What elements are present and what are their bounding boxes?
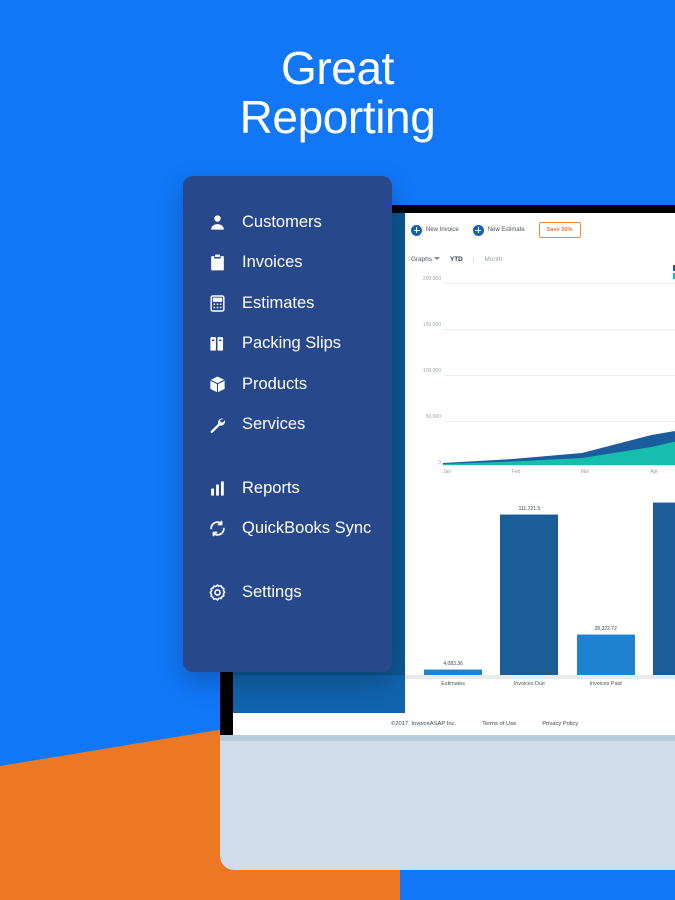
bar-rect bbox=[653, 502, 675, 675]
sidebar-group-divider bbox=[207, 445, 392, 468]
sidebar-item-estimates[interactable]: Estimates bbox=[207, 283, 392, 324]
x-axis-tick: Mar bbox=[581, 469, 590, 475]
graphs-label: Graphs bbox=[411, 256, 432, 263]
bar-column: 4,083.36 bbox=[424, 495, 482, 675]
sidebar-item-label: Reports bbox=[242, 479, 300, 498]
app-footer: ©2017. InvoiceASAP Inc. Terms of Use Pri… bbox=[233, 713, 675, 735]
box-icon bbox=[207, 374, 228, 395]
y-axis-tick: 100,000 bbox=[411, 368, 441, 374]
sidebar-item-label: Estimates bbox=[242, 294, 314, 313]
sales-payments-area-chart: 200,000 150,000 100,000 50,000 0 Jan Feb… bbox=[411, 271, 675, 493]
x-axis: Jan Feb Mar Apr May bbox=[443, 465, 675, 479]
chevron-down-icon bbox=[434, 257, 440, 260]
bar-rect bbox=[577, 634, 635, 675]
sidebar-item-services[interactable]: Services bbox=[207, 405, 392, 446]
sidebar-item-label: Customers bbox=[242, 213, 322, 232]
bar-category-label: Invoices Due bbox=[500, 681, 558, 687]
tab-separator: | bbox=[473, 256, 475, 263]
sidebar-group-divider bbox=[207, 549, 392, 572]
sidebar-item-customers[interactable]: Customers bbox=[207, 202, 392, 243]
bar-value-label: 4,083.36 bbox=[443, 661, 462, 667]
graphs-dropdown[interactable]: Graphs bbox=[411, 256, 440, 263]
new-estimate-label: New Estimate bbox=[488, 227, 525, 233]
tab-month[interactable]: Month bbox=[484, 256, 502, 263]
bar-category-label bbox=[653, 681, 675, 687]
sidebar-item-label: Services bbox=[242, 415, 305, 434]
page-title: Great Reporting bbox=[0, 44, 675, 142]
bar-category-labels: Estimates Invoices Due Invoices Paid bbox=[415, 681, 675, 687]
graph-tab-row: Graphs YTD | Month bbox=[411, 249, 675, 269]
wrench-icon bbox=[207, 414, 228, 435]
new-estimate-button[interactable]: New Estimate bbox=[473, 225, 525, 236]
bar-category-label: Invoices Paid bbox=[577, 681, 635, 687]
plus-circle-icon bbox=[411, 225, 422, 236]
bar-column: 111,721.5 bbox=[500, 495, 558, 675]
gear-icon bbox=[207, 582, 228, 603]
sidebar-item-settings[interactable]: Settings bbox=[207, 572, 392, 613]
packing-slips-icon bbox=[207, 333, 228, 354]
sidebar-item-label: Packing Slips bbox=[242, 334, 341, 353]
bar-column: 28,322.72 bbox=[577, 495, 635, 675]
calculator-icon bbox=[207, 293, 228, 314]
bar-value-label: 28,322.72 bbox=[595, 626, 617, 632]
floating-sidebar-menu: Customers Invoices Estimates Packing Sli… bbox=[183, 176, 392, 672]
y-axis-tick: 50,000 bbox=[411, 414, 441, 420]
area-series-svg bbox=[443, 275, 675, 465]
monitor-base-edge bbox=[220, 735, 675, 741]
bar-category-label: Estimates bbox=[424, 681, 482, 687]
new-invoice-button[interactable]: New Invoice bbox=[411, 225, 459, 236]
plus-circle-icon bbox=[473, 225, 484, 236]
x-axis-tick: Jan bbox=[443, 469, 451, 475]
copyright-text: ©2017. InvoiceASAP Inc. bbox=[391, 721, 456, 727]
bar-series: 4,083.36 111,721.5 28,322.72 bbox=[415, 495, 675, 675]
app-toolbar: New Invoice New Estimate Save 50% bbox=[405, 213, 675, 247]
sidebar-item-quickbooks-sync[interactable]: QuickBooks Sync bbox=[207, 509, 392, 550]
sync-icon bbox=[207, 518, 228, 539]
bar-value-label: 111,721.5 bbox=[519, 506, 541, 512]
person-icon bbox=[207, 212, 228, 233]
bar-chart-icon bbox=[207, 478, 228, 499]
sidebar-item-invoices[interactable]: Invoices bbox=[207, 243, 392, 284]
y-axis-tick: 0 bbox=[411, 460, 441, 466]
headline-line-2: Reporting bbox=[0, 93, 675, 142]
invoice-summary-bar-chart: 4,083.36 111,721.5 28,322.72 bbox=[405, 495, 675, 700]
clipboard-icon bbox=[207, 252, 228, 273]
sidebar-item-reports[interactable]: Reports bbox=[207, 468, 392, 509]
promo-screenshot: Great Reporting New Invoice bbox=[0, 0, 675, 900]
x-axis-tick: Apr bbox=[650, 469, 658, 475]
sidebar-item-label: Settings bbox=[242, 583, 302, 602]
save-promo-badge[interactable]: Save 50% bbox=[539, 222, 581, 238]
sidebar-item-label: Products bbox=[242, 375, 307, 394]
bar-column bbox=[653, 495, 675, 675]
bar-rect bbox=[500, 514, 558, 675]
sidebar-item-products[interactable]: Products bbox=[207, 364, 392, 405]
app-left-nav-lower bbox=[233, 675, 405, 717]
sidebar-item-label: QuickBooks Sync bbox=[242, 519, 371, 538]
sidebar-item-label: Invoices bbox=[242, 253, 303, 272]
y-axis-tick: 200,000 bbox=[411, 276, 441, 282]
monitor-base bbox=[220, 735, 675, 870]
new-invoice-label: New Invoice bbox=[426, 227, 459, 233]
privacy-policy-link[interactable]: Privacy Policy bbox=[542, 721, 578, 727]
area-plot bbox=[443, 275, 675, 465]
terms-of-use-link[interactable]: Terms of Use bbox=[482, 721, 516, 727]
tab-ytd[interactable]: YTD bbox=[450, 256, 463, 263]
headline-line-1: Great bbox=[281, 42, 394, 94]
bar-baseline bbox=[405, 675, 675, 679]
y-axis-tick: 150,000 bbox=[411, 322, 441, 328]
sidebar-item-packing-slips[interactable]: Packing Slips bbox=[207, 324, 392, 365]
x-axis-tick: Feb bbox=[512, 469, 521, 475]
